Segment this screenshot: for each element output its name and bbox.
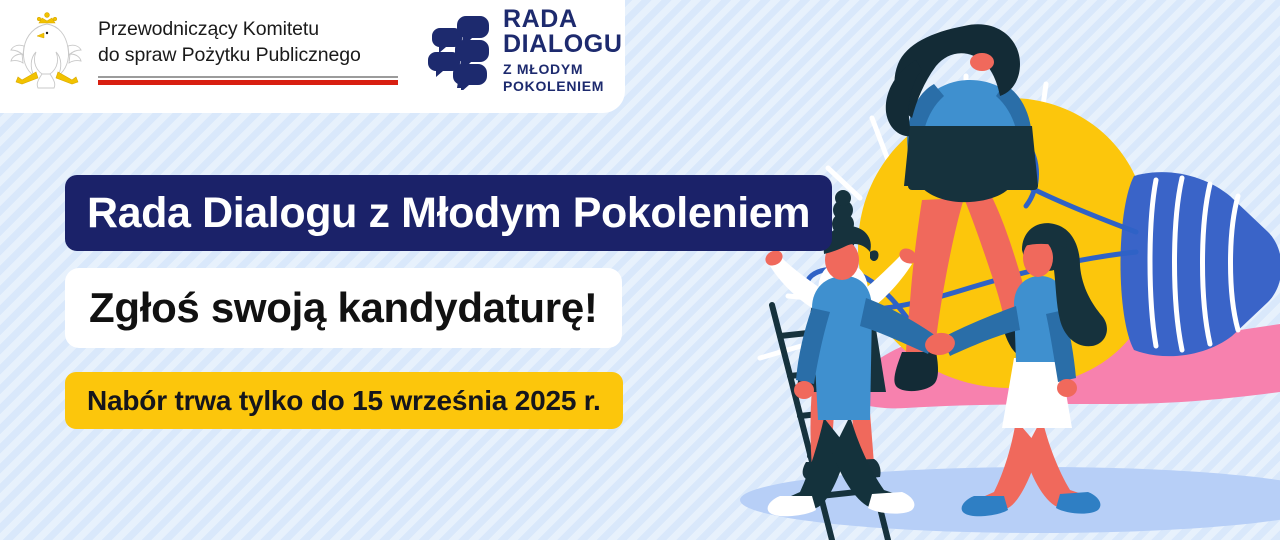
logo-line-z-mlodym: Z MŁODYM bbox=[503, 61, 622, 78]
divider-grey bbox=[98, 76, 398, 78]
ministry-title-block: Przewodniczący Komitetu do spraw Pożytku… bbox=[98, 17, 398, 84]
headline-title-bar: Rada Dialogu z Młodym Pokoleniem bbox=[65, 175, 832, 251]
ministry-title-line-2: do spraw Pożytku Publicznego bbox=[98, 43, 398, 69]
polish-eagle-icon bbox=[8, 10, 86, 92]
header-inner: Przewodniczący Komitetu do spraw Pożytku… bbox=[8, 7, 622, 95]
logo-line-dialogu: DIALOGU bbox=[503, 32, 622, 58]
laptop bbox=[904, 126, 1038, 186]
rada-dialogu-plant-icon bbox=[428, 12, 492, 90]
illustration-lightbulb-teamwork bbox=[720, 0, 1280, 540]
rada-dialogu-logo: RADA DIALOGU Z MŁODYM POKOLENIEM bbox=[428, 7, 622, 95]
header-panel: Przewodniczący Komitetu do spraw Pożytku… bbox=[0, 0, 625, 113]
headline-cta-bar[interactable]: Zgłoś swoją kandydaturę! bbox=[65, 268, 622, 348]
headline-deadline-bar: Nabór trwa tylko do 15 września 2025 r. bbox=[65, 372, 623, 429]
logo-line-rada: RADA bbox=[503, 7, 622, 33]
banner-root: Przewodniczący Komitetu do spraw Pożytku… bbox=[0, 0, 1280, 540]
rada-dialogu-wordmark: RADA DIALOGU Z MŁODYM POKOLENIEM bbox=[503, 7, 622, 95]
ministry-title-line-1: Przewodniczący Komitetu bbox=[98, 17, 398, 43]
divider-red bbox=[98, 80, 398, 85]
logo-line-pokoleniem: POKOLENIEM bbox=[503, 78, 622, 95]
shoe-left bbox=[894, 352, 938, 391]
sweater-left bbox=[812, 276, 872, 420]
